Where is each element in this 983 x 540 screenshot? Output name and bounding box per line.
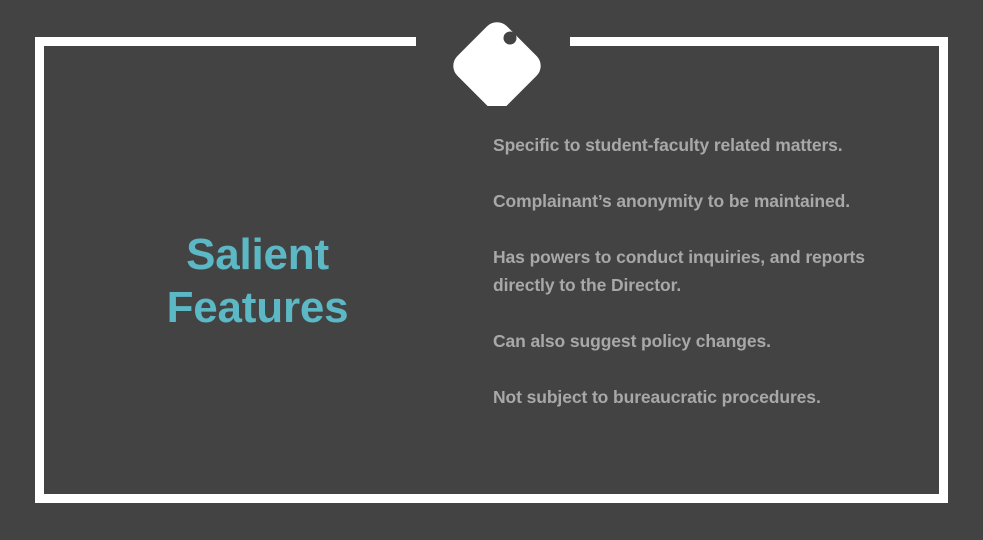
page-title: Salient Features <box>60 228 455 334</box>
tag-icon <box>447 6 547 106</box>
features-list: Specific to student-faculty related matt… <box>493 131 923 411</box>
page-title-line-2: Features <box>60 281 455 334</box>
feature-item: Can also suggest policy changes. <box>493 327 923 355</box>
feature-item: Not subject to bureaucratic procedures. <box>493 383 923 411</box>
frame-border-right <box>939 37 948 503</box>
frame-border-top-right <box>570 37 948 46</box>
feature-item: Specific to student-faculty related matt… <box>493 131 923 159</box>
frame-border-top-left <box>35 37 416 46</box>
feature-item: Has powers to conduct inquiries, and rep… <box>493 243 923 299</box>
frame-border-left <box>35 37 44 503</box>
slide-canvas: Salient Features Specific to student-fac… <box>0 0 983 540</box>
feature-item: Complainant’s anonymity to be maintained… <box>493 187 923 215</box>
page-title-line-1: Salient <box>60 228 455 281</box>
frame-border-bottom <box>35 494 948 503</box>
